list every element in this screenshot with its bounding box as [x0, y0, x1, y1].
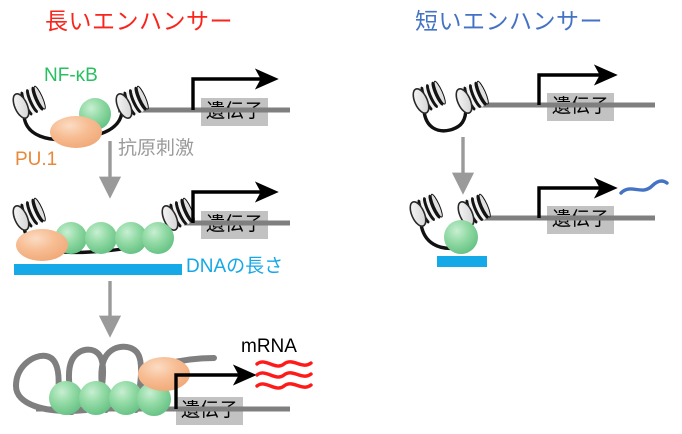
nucleosome-left-row2-a [10, 197, 47, 233]
pu1-ellipse-left-row2 [16, 229, 68, 261]
nfkb-sphere-left-row2-4 [142, 222, 174, 254]
nfkb-sphere-right-row2 [444, 220, 478, 254]
pu1-ellipse-left-row1 [50, 116, 102, 148]
nfkb-sphere-left-row2-2 [85, 222, 117, 254]
mrna-strand-3 [257, 384, 311, 388]
left-row1-group [10, 79, 290, 148]
left-row2-group [10, 192, 290, 261]
nucleosome-right-row1-b [453, 80, 490, 116]
mrna-strand-1 [257, 362, 311, 366]
tss-arrow-left-row1 [193, 79, 274, 110]
nucleosome-right-row1-a [410, 80, 447, 116]
tss-arrow-right-row1 [539, 75, 613, 105]
figure-canvas: 長いエンハンサー 短いエンハンサー NF-κB PU.1 抗原刺激 DNAの長さ… [0, 0, 682, 434]
mrna-strand-2 [257, 373, 311, 377]
diagram-vectors [0, 0, 682, 434]
tss-arrow-right-row2 [539, 188, 613, 218]
tss-arrow-left-row2 [193, 192, 274, 223]
nfkb-sphere-left-row3-2 [79, 381, 113, 415]
nucleosome-left-row1-b [113, 85, 150, 121]
nucleosome-left-row1-a [10, 85, 47, 121]
right-row2-group [407, 181, 667, 254]
left-row3-group [16, 347, 311, 416]
mrna-strand-right [621, 181, 667, 193]
nfkb-sphere-left-row3-1 [49, 381, 83, 415]
nucleosome-right-row2-a [407, 193, 444, 229]
right-row1-group [410, 75, 655, 131]
